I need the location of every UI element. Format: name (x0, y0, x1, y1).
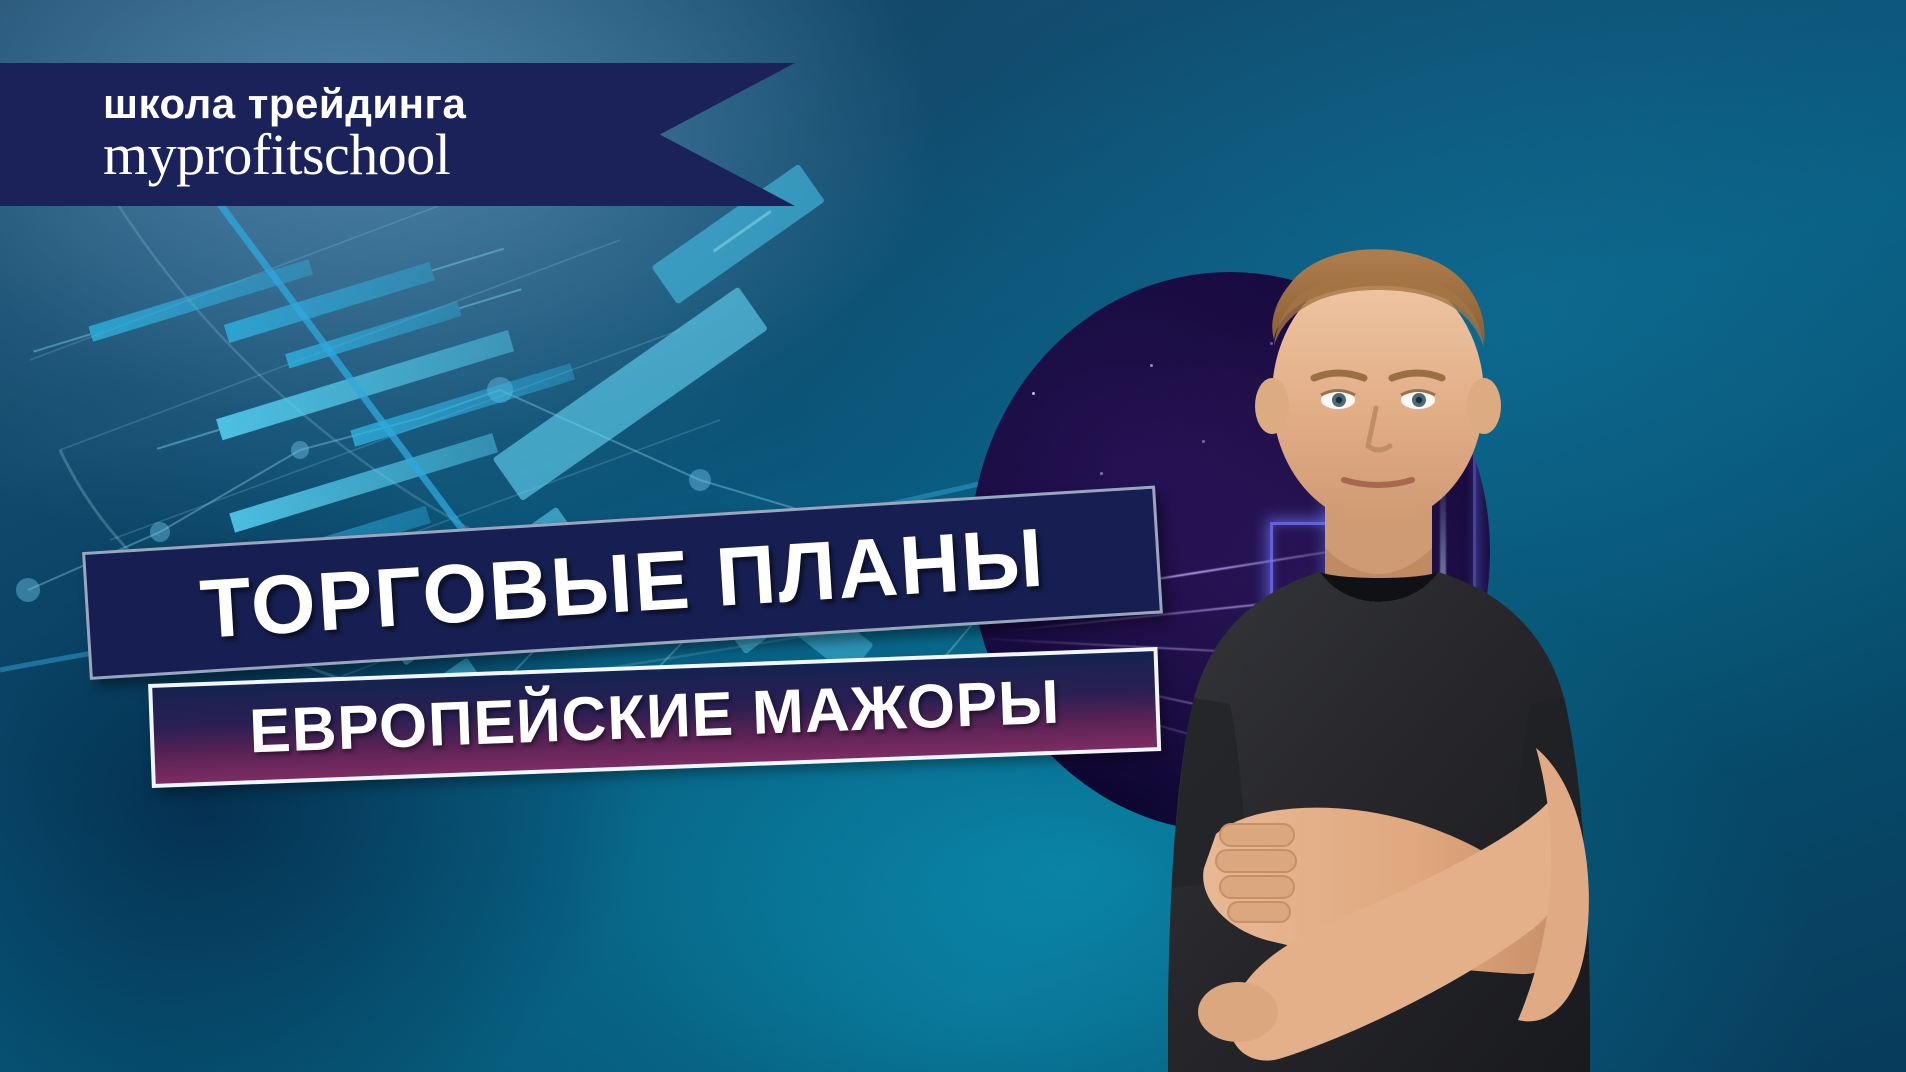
youtube-thumbnail: школа трейдинга myprofitschool (0, 0, 1906, 1072)
subtitle-text: ЕВРОПЕЙСКИЕ МАЖОРЫ (248, 672, 1061, 764)
presenter-photo (1120, 228, 1680, 1072)
brand-logo-ribbon: школа трейдинга myprofitschool (0, 63, 795, 206)
main-title-text: ТОРГОВЫЕ ПЛАНЫ (198, 515, 1047, 650)
brand-tagline: школа трейдинга (103, 83, 795, 126)
brand-name: myprofitschool (103, 124, 795, 187)
